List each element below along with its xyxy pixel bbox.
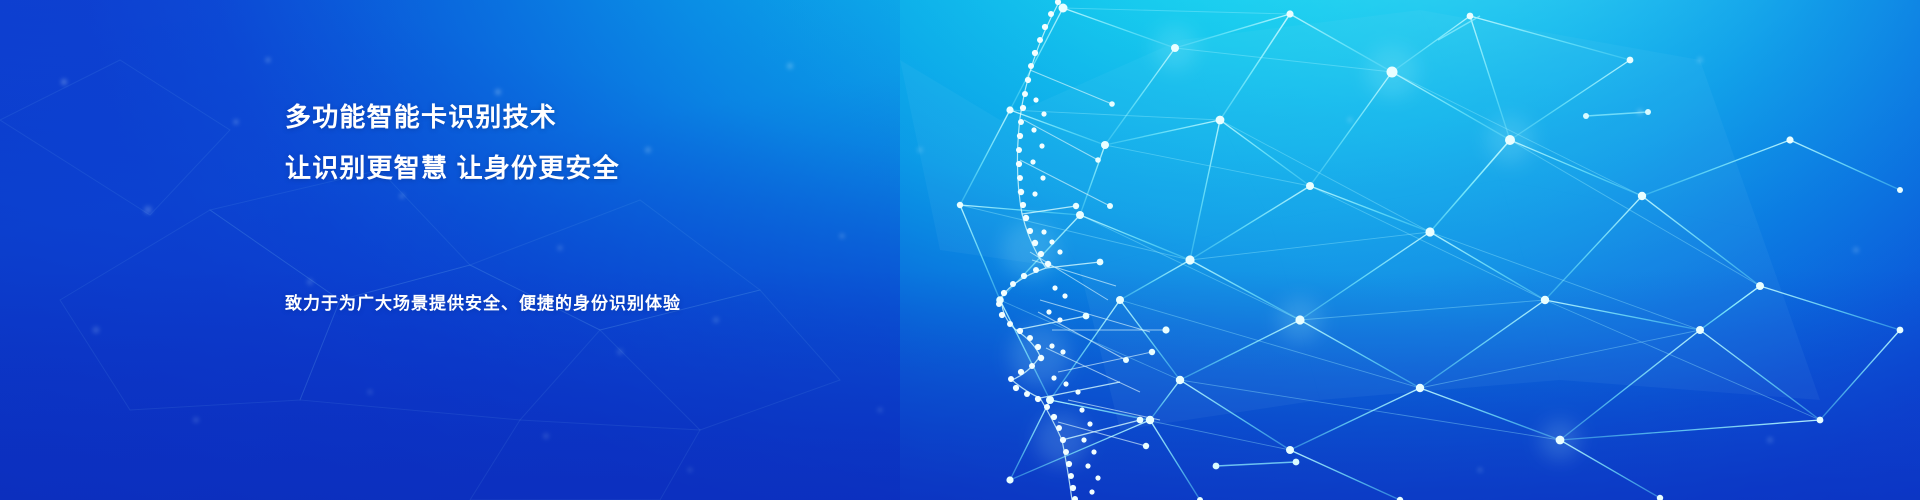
headline-line-1: 多功能智能卡识别技术 — [285, 104, 557, 130]
hero-banner: 多功能智能卡识别技术 让识别更智慧 让身份更安全 致力于为广大场景提供安全、便捷… — [0, 0, 1920, 500]
headline-line-2: 让识别更智慧 让身份更安全 — [285, 155, 620, 181]
hero-text-block: 多功能智能卡识别技术 让识别更智慧 让身份更安全 致力于为广大场景提供安全、便捷… — [285, 0, 1045, 500]
hero-subtitle: 致力于为广大场景提供安全、便捷的身份识别体验 — [285, 295, 681, 312]
